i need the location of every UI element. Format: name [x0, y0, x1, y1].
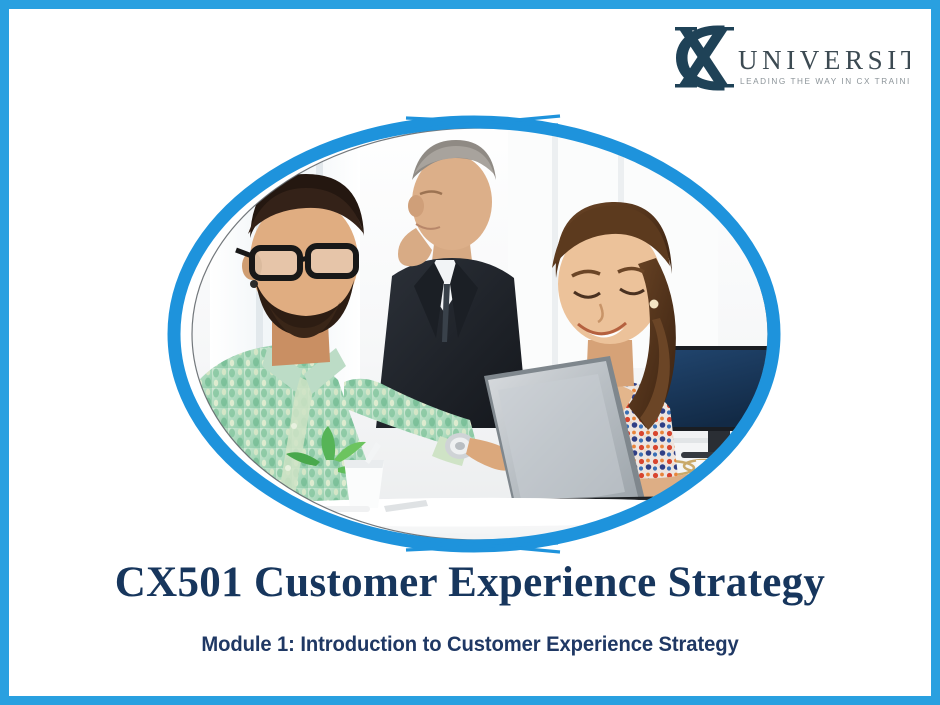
slide-frame-bottom — [0, 696, 940, 705]
logo-tagline: LEADING THE WAY IN CX TRAINING — [740, 77, 910, 86]
slide-frame-left — [0, 0, 9, 705]
slide-frame-top — [0, 0, 940, 9]
page-subtitle: Module 1: Introduction to Customer Exper… — [37, 632, 904, 658]
desk-plant-right — [788, 362, 812, 438]
title-block: CX501 Customer Experience Strategy Modul… — [9, 560, 931, 657]
cx-university-logo: UNIVERSITY LEADING THE WAY IN CX TRAININ… — [660, 22, 910, 94]
hero-image-oval — [148, 108, 812, 560]
slide-frame-right — [931, 0, 940, 705]
page-title: CX501 Customer Experience Strategy — [9, 560, 931, 606]
title-slide: UNIVERSITY LEADING THE WAY IN CX TRAININ… — [0, 0, 940, 705]
logo-wordmark: UNIVERSITY — [738, 45, 910, 75]
hero-photograph — [148, 108, 812, 560]
